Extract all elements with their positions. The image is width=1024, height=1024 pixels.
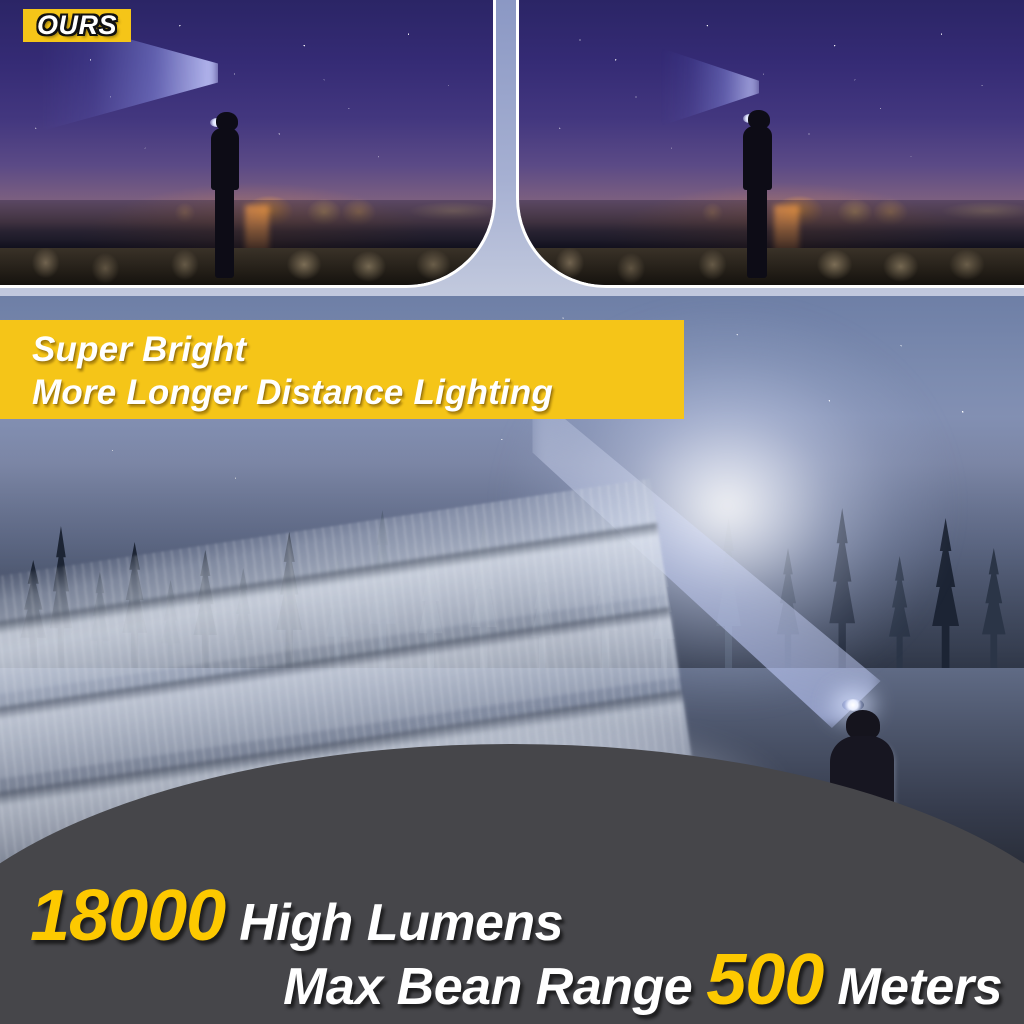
lumens-label: High Lumens	[239, 895, 563, 951]
spec-block: 18000 High Lumens Max Bean Range 500 Met…	[0, 874, 1024, 1024]
rocky-shore	[519, 248, 1024, 285]
rocky-shore	[0, 248, 493, 285]
product-feature-poster: OURS OTHERS	[0, 0, 1024, 1024]
spec-line-lumens: 18000 High Lumens	[30, 880, 563, 952]
headline-line-2: More Longer Distance Lighting	[32, 371, 684, 414]
headline-line-1: Super Bright	[32, 328, 684, 371]
comparison-panel-others: OTHERS	[516, 0, 1024, 288]
comparison-strip: OURS OTHERS	[0, 0, 1024, 300]
person-silhouette	[211, 128, 239, 190]
lumens-value: 18000	[30, 880, 225, 952]
comparison-panel-ours: OURS	[0, 0, 496, 288]
person-legs	[747, 186, 767, 278]
badge-ours: OURS	[23, 9, 131, 42]
headline-banner: Super Bright More Longer Distance Lighti…	[0, 320, 684, 419]
range-value: 500	[706, 944, 823, 1016]
person-legs	[215, 186, 234, 278]
spec-line-range: Max Bean Range 500 Meters	[283, 944, 1002, 1016]
range-unit: Meters	[837, 959, 1002, 1015]
range-prefix: Max Bean Range	[283, 959, 692, 1015]
person-silhouette	[743, 126, 772, 190]
